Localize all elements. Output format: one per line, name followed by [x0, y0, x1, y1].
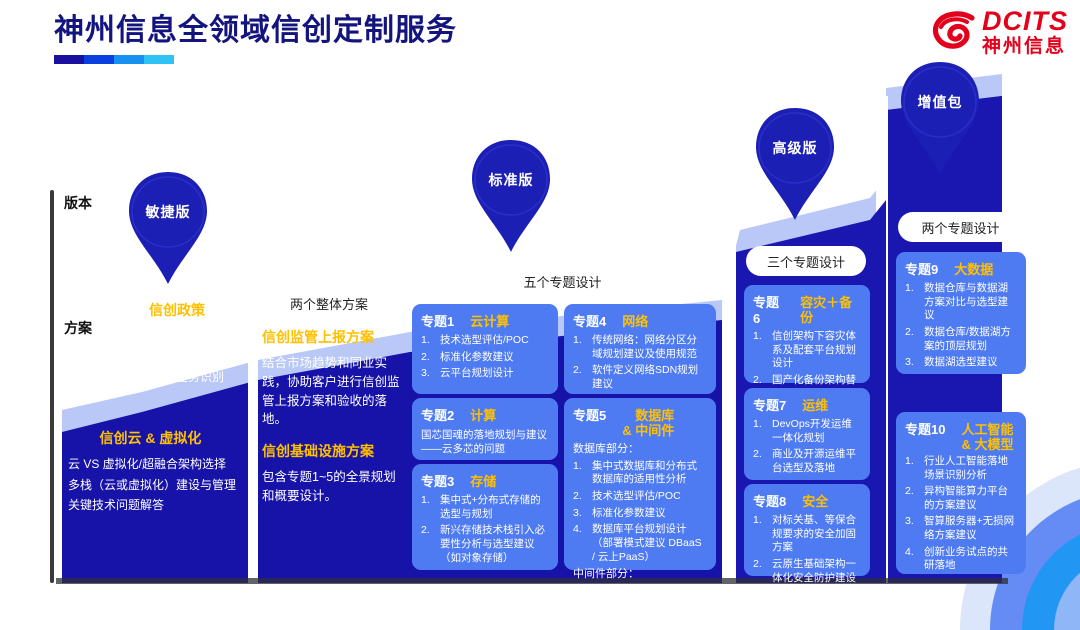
- card-number: 专题5: [573, 405, 606, 424]
- pin-label-standard: 标准版: [468, 170, 554, 190]
- list-item: 多栈（云或虚拟化）建设与管理: [48, 476, 253, 495]
- card-number: 专题3: [421, 471, 454, 490]
- logo-wordmark: DCITS 神州信息: [982, 8, 1068, 56]
- group-paragraph-infrastructure-plan: 包含专题1~5的全景规划和概要设计。: [262, 468, 404, 506]
- card-topic-10-ai-large-model[interactable]: 专题10 人工智能 & 大模型 行业人工智能落地场景识别分析 异构智能算力平台的…: [896, 412, 1026, 574]
- logo-brand-cn-text: 神州信息: [982, 37, 1068, 56]
- list-item: 同业分享: [108, 348, 246, 367]
- list-item: 技术选型评估/POC: [573, 490, 707, 504]
- card-number: 专题7: [753, 395, 786, 414]
- pin-marker-addon[interactable]: 增值包: [897, 62, 983, 174]
- card-topic: 容灾＋备份: [800, 296, 861, 326]
- card-list: 集中式数据库和分布式数据库的适用性分析 技术选型评估/POC 标准化参数建议 数…: [573, 460, 707, 564]
- card-list: 行业人工智能落地场景识别分析 异构智能算力平台的方案建议 智算服务器+无损网络方…: [905, 455, 1017, 573]
- pin-marker-agile[interactable]: 敏捷版: [125, 172, 211, 284]
- card-topic: 计算: [470, 409, 496, 424]
- group-title-xinchuang-policy: 信创政策: [108, 300, 246, 320]
- list-item: DevOps开发运维一体化规划: [753, 418, 861, 445]
- list-item: 标准化参数建议: [573, 507, 707, 521]
- list-item: 关键技术问题解答: [48, 496, 253, 515]
- card-tail-text: 中间件选型策略：云原生优先+传统信创中间件+开源管理: [573, 585, 707, 628]
- pill-five-topic-designs[interactable]: 五个专题设计: [410, 266, 715, 296]
- card-topic-9-big-data[interactable]: 专题9 大数据 数据仓库与数据湖方案对比与选型建议 数据仓库/数据湖方案的顶层规…: [896, 252, 1026, 374]
- rule-seg-1: [54, 55, 84, 64]
- rule-seg-3: [114, 55, 144, 64]
- page-title: 神州信息全领域信创定制服务: [54, 12, 457, 50]
- list-item: 传统网络：网络分区分域规划建议及使用规范: [573, 334, 707, 361]
- card-topic-2-computing[interactable]: 专题2 计算 国芯国魂的落地规划与建议——云多芯的问题: [412, 398, 558, 460]
- card-topic: 安全: [802, 495, 828, 510]
- card-number: 专题10: [905, 419, 945, 438]
- list-item: 信创架构下容灾体系及配套平台规划设计: [753, 330, 861, 371]
- list-item: 云原生基础架构一体化安全防护建设方案: [753, 558, 861, 599]
- pill-three-topic-designs[interactable]: 三个专题设计: [746, 246, 866, 276]
- card-number: 专题1: [421, 311, 454, 330]
- pin-marker-standard[interactable]: 标准版: [468, 140, 554, 252]
- pin-label-addon: 增值包: [897, 92, 983, 112]
- card-topic-6-dr-backup[interactable]: 专题6 容灾＋备份 信创架构下容灾体系及配套平台规划设计 国产化备份架构替代: [744, 285, 870, 383]
- brand-logo: DCITS 神州信息: [931, 8, 1068, 56]
- card-topic: 大数据: [954, 263, 993, 278]
- list-item: 集中式数据库和分布式数据库的适用性分析: [573, 460, 707, 487]
- group-title-cloud-virtualization: 信创云 & 虚拟化: [48, 428, 253, 448]
- group-list-xinchuang-policy: 政策解读 同业分享 信创关键任务识别: [108, 327, 246, 387]
- card-list: 数据仓库与数据湖方案对比与选型建议 数据仓库/数据湖方案的顶层规划 数据湖选型建…: [905, 282, 1017, 370]
- list-item: 异构智能算力平台的方案建议: [905, 485, 1017, 512]
- card-number: 专题2: [421, 405, 454, 424]
- card-number: 专题6: [753, 292, 784, 326]
- pill-two-overall-plans[interactable]: 两个整体方案: [264, 288, 394, 318]
- list-item: 数据湖选型建议: [905, 356, 1017, 370]
- list-item: 技术选型评估/POC: [421, 334, 549, 348]
- group-title-supervision-report: 信创监管上报方案: [262, 327, 404, 347]
- column-agile-cloud: 信创云 & 虚拟化 云 VS 虚拟化/超融合架构选择 多栈（云或虚拟化）建设与管…: [48, 428, 253, 588]
- card-list: DevOps开发运维一体化规划 商业及开源运维平台选型及落地: [753, 418, 861, 476]
- list-item: 集中式+分布式存储的选型与规划: [421, 494, 549, 521]
- list-item: 标准化参数建议: [421, 351, 549, 365]
- list-item: 数据仓库与数据湖方案对比与选型建议: [905, 282, 1017, 323]
- column-two-overall-plans: 信创监管上报方案 结合市场趋势和同业实践，协助客户进行信创监管上报方案和验收的落…: [262, 327, 404, 577]
- card-topic-4-network[interactable]: 专题4 网络 传统网络：网络分区分域规划建议及使用规范 软件定义网络SDN规划建…: [564, 304, 716, 394]
- list-item: 云 VS 虚拟化/超融合架构选择: [48, 455, 253, 474]
- card-list: 对标关基、等保合规要求的安全加固方案 云原生基础架构一体化安全防护建设方案: [753, 514, 861, 599]
- axis-line: [50, 190, 54, 583]
- card-topic: 运维: [802, 399, 828, 414]
- card-number: 专题4: [573, 311, 606, 330]
- list-item: 信创关键任务识别: [108, 368, 246, 387]
- list-item: 智算服务器+无损网络方案建议: [905, 515, 1017, 542]
- rule-seg-4: [144, 55, 174, 64]
- list-item: 数据库平台规划设计（部署模式建议 DBaaS / 云上PaaS）: [573, 523, 707, 564]
- card-topic-3-storage[interactable]: 专题3 存储 集中式+分布式存储的选型与规划 新兴存储技术栈引入必要性分析与选型…: [412, 464, 558, 570]
- dcits-swirl-icon: [931, 9, 977, 55]
- card-list: 集中式+分布式存储的选型与规划 新兴存储技术栈引入必要性分析与选型建议（如对象存…: [421, 494, 549, 565]
- card-topic-5-database-middleware[interactable]: 专题5 数据库 & 中间件 数据库部分： 集中式数据库和分布式数据库的适用性分析…: [564, 398, 716, 570]
- list-item: 软件定义网络SDN规划建议: [573, 364, 707, 391]
- group-title-infrastructure-plan: 信创基础设施方案: [262, 441, 404, 461]
- pin-label-agile: 敏捷版: [125, 202, 211, 222]
- title-underline-rule: [54, 55, 174, 64]
- list-item: 新兴存储技术栈引入必要性分析与选型建议（如对象存储）: [421, 524, 549, 565]
- list-item: 政策解读: [108, 327, 246, 346]
- list-item: 云平台规划设计: [421, 367, 549, 381]
- card-topic: 网络: [622, 315, 648, 330]
- card-subheading-middleware: 中间件部分：: [573, 567, 707, 582]
- card-list: 传统网络：网络分区分域规划建议及使用规范 软件定义网络SDN规划建议: [573, 334, 707, 392]
- pin-label-advanced: 高级版: [752, 138, 838, 158]
- list-item: 数据仓库/数据湖方案的顶层规划: [905, 326, 1017, 353]
- card-topic: 数据库 & 中间件: [622, 409, 674, 439]
- logo-brand-text: DCITS: [982, 8, 1068, 35]
- card-number: 专题9: [905, 259, 938, 278]
- card-list: 技术选型评估/POC 标准化参数建议 云平台规划设计: [421, 334, 549, 381]
- card-topic: 存储: [470, 475, 496, 490]
- card-number: 专题8: [753, 491, 786, 510]
- list-item: 行业人工智能落地场景识别分析: [905, 455, 1017, 482]
- card-subheading-database: 数据库部分：: [573, 442, 707, 457]
- axis-label-plan: 方案: [64, 318, 92, 338]
- rule-seg-2: [84, 55, 114, 64]
- axis-label-version: 版本: [64, 193, 92, 213]
- list-item: 对标关基、等保合规要求的安全加固方案: [753, 514, 861, 555]
- pill-two-topic-designs[interactable]: 两个专题设计: [898, 212, 1023, 242]
- card-topic-8-security[interactable]: 专题8 安全 对标关基、等保合规要求的安全加固方案 云原生基础架构一体化安全防护…: [744, 484, 870, 576]
- group-paragraph-supervision-report: 结合市场趋势和同业实践，协助客户进行信创监管上报方案和验收的落地。: [262, 354, 404, 429]
- card-topic-1-cloud-computing[interactable]: 专题1 云计算 技术选型评估/POC 标准化参数建议 云平台规划设计: [412, 304, 558, 394]
- card-topic: 云计算: [470, 315, 509, 330]
- list-item: 商业及开源运维平台选型及落地: [753, 448, 861, 475]
- card-paragraph: 国芯国魂的落地规划与建议——云多芯的问题: [421, 428, 549, 456]
- pin-marker-advanced[interactable]: 高级版: [752, 108, 838, 220]
- list-item: 创新业务试点的共研落地: [905, 546, 1017, 573]
- header: 神州信息全领域信创定制服务: [54, 12, 457, 64]
- group-list-cloud-virtualization: 云 VS 虚拟化/超融合架构选择 多栈（云或虚拟化）建设与管理 关键技术问题解答: [48, 455, 253, 515]
- card-topic: 人工智能 & 大模型: [961, 423, 1013, 453]
- card-topic-7-operations[interactable]: 专题7 运维 DevOps开发运维一体化规划 商业及开源运维平台选型及落地: [744, 388, 870, 480]
